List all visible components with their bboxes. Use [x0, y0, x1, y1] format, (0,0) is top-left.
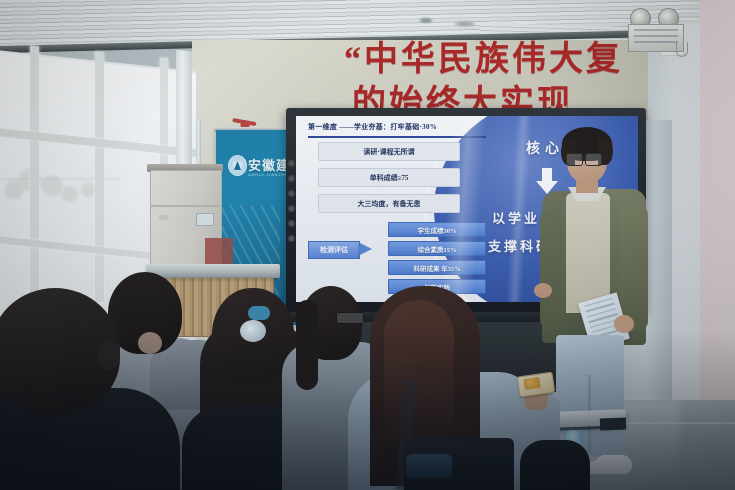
presenter-glasses-right-lens: [585, 153, 602, 166]
lectern-control-box[interactable]: [600, 418, 626, 431]
slide-eval-label: 检测评估: [308, 241, 360, 259]
student-1-ear: [98, 340, 120, 370]
student-3-hair-clip: [240, 320, 266, 342]
window-mullion-vertical-2: [95, 52, 104, 303]
slide-criteria-box-1: 读研·课程无所谓: [318, 142, 460, 161]
student-6-silhouette: [520, 440, 590, 490]
display-button-1[interactable]: [288, 160, 295, 167]
display-button-3[interactable]: [288, 190, 295, 197]
presenter-shoe-right: [598, 455, 632, 474]
student-3-hair-band: [248, 306, 270, 320]
right-wall-pink-strip: [700, 0, 735, 430]
presenter-sleeve-right: [620, 205, 648, 331]
screenshot-root: “中华民族伟大复 的始终大实现 安徽建筑大 ANHUI JIANZHU UNIV…: [0, 0, 735, 490]
student-5-hair-highlight: [384, 300, 454, 450]
display-button-5[interactable]: [288, 220, 295, 227]
student-4-glasses: [336, 312, 364, 324]
presenter-glasses-bridge: [581, 157, 585, 159]
university-logo-icon: [228, 155, 247, 176]
slide-criteria-box-3: 大三均度，有备无患: [318, 194, 460, 213]
chair-back-2: [406, 454, 452, 478]
presenter-hand-left: [534, 283, 552, 298]
presenter-sleeve-left: [540, 209, 566, 329]
cabinet-seam: [150, 205, 220, 207]
presenter-hand-right: [614, 315, 634, 333]
display-button-6[interactable]: [288, 235, 295, 242]
slide-right-arrow-icon: [360, 243, 372, 255]
display-side-buttons[interactable]: [288, 160, 296, 260]
emergency-light-cord: [676, 42, 688, 57]
slide-criteria-box-2: 单科成绩≥75: [318, 168, 460, 187]
display-button-2[interactable]: [288, 175, 295, 182]
student-2-glasses: [118, 318, 142, 329]
student-5-phone-case-art: [523, 377, 540, 390]
podium-top-surface: [146, 264, 280, 278]
ceiling-fixture-dot: [420, 18, 432, 23]
ceiling-fixture-dot-2: [455, 22, 475, 26]
student-2-hand: [138, 332, 162, 354]
student-4-hair-strand: [296, 300, 318, 390]
window-mullion-vertical-1: [30, 46, 39, 297]
display-button-4[interactable]: [288, 205, 295, 212]
cabinet-label-plate: [196, 213, 214, 226]
presenter-glasses-left-lens: [566, 153, 583, 166]
emergency-light-icon: [628, 8, 684, 52]
banner-line-1: “中华民族伟大复: [344, 40, 670, 80]
cabinet-knob: [159, 215, 168, 220]
